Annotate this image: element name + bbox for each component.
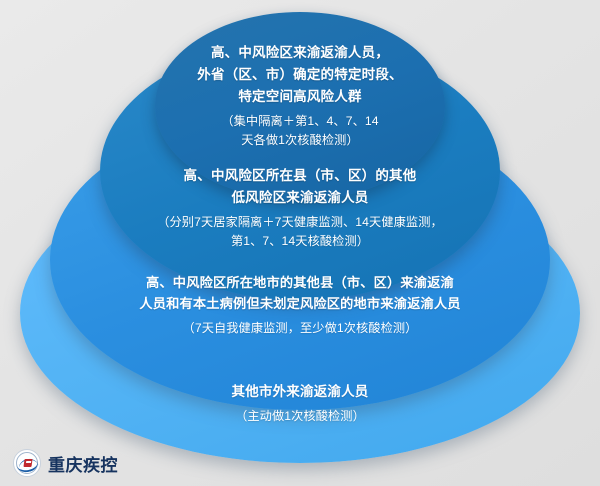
logo-text: 重庆疾控 [48,451,118,476]
logo: 重庆疾控 [13,449,118,477]
ellipse-layer-innermost [155,12,445,200]
diagram-canvas: 其他市外来渝返渝人员 （主动做1次核酸检测） 高、中风险区所在地市的其他县（市、… [0,0,600,486]
cdc-emblem-icon [13,449,41,477]
